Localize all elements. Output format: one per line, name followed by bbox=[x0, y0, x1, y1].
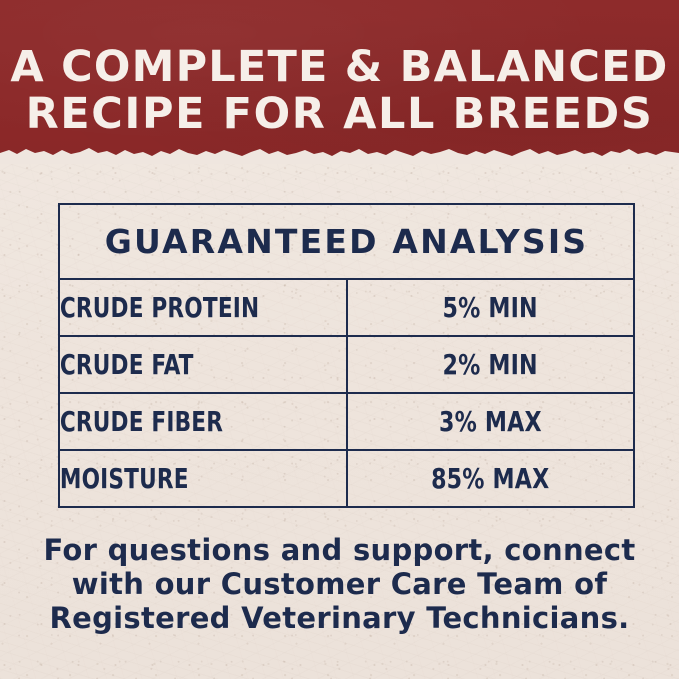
support-message-line-2: with our Customer Care Team of bbox=[40, 567, 639, 601]
nutrient-value-text: 5% MIN bbox=[443, 291, 538, 324]
nutrient-value-crude-protein: 5% MIN bbox=[347, 279, 635, 336]
support-message-line-1: For questions and support, connect bbox=[40, 533, 639, 567]
support-message-line-3: Registered Veterinary Technicians. bbox=[40, 601, 639, 635]
support-message: For questions and support, connect with … bbox=[40, 533, 639, 635]
page-title: A COMPLETE & BALANCED RECIPE FOR ALL BRE… bbox=[0, 44, 679, 138]
table-row: CRUDE PROTEIN 5% MIN bbox=[59, 279, 634, 336]
nutrient-value-crude-fat: 2% MIN bbox=[347, 336, 635, 393]
table-row: CRUDE FAT 2% MIN bbox=[59, 336, 634, 393]
page-title-line-2: RECIPE FOR ALL BREEDS bbox=[0, 91, 679, 138]
header-banner: A COMPLETE & BALANCED RECIPE FOR ALL BRE… bbox=[0, 0, 679, 164]
nutrient-label-crude-fat: CRUDE FAT bbox=[59, 336, 306, 393]
nutrient-value-text: 2% MIN bbox=[443, 348, 538, 381]
table-row: CRUDE FIBER 3% MAX bbox=[59, 393, 634, 450]
nutrient-label-crude-protein: CRUDE PROTEIN bbox=[59, 279, 306, 336]
product-label-panel: A COMPLETE & BALANCED RECIPE FOR ALL BRE… bbox=[0, 0, 679, 679]
nutrient-label-moisture: MOISTURE bbox=[59, 450, 306, 507]
guaranteed-analysis-table: GUARANTEED ANALYSIS CRUDE PROTEIN 5% MIN… bbox=[58, 203, 635, 508]
table-row: MOISTURE 85% MAX bbox=[59, 450, 634, 507]
nutrient-value-text: 85% MAX bbox=[431, 462, 549, 495]
nutrient-value-moisture: 85% MAX bbox=[347, 450, 635, 507]
table-header-row: GUARANTEED ANALYSIS bbox=[59, 204, 634, 279]
nutrient-label-crude-fiber: CRUDE FIBER bbox=[59, 393, 306, 450]
nutrient-value-text: 3% MAX bbox=[439, 405, 542, 438]
nutrient-value-crude-fiber: 3% MAX bbox=[347, 393, 635, 450]
torn-paper-edge bbox=[0, 142, 679, 164]
page-title-line-1: A COMPLETE & BALANCED bbox=[0, 44, 679, 91]
guaranteed-analysis-heading: GUARANTEED ANALYSIS bbox=[59, 204, 634, 279]
